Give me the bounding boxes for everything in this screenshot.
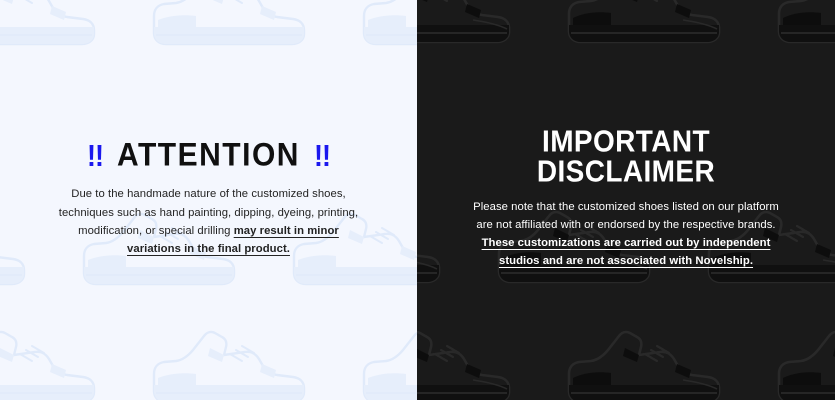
attention-heading: !! ATTENTION !! [87,140,330,172]
disclaimer-body: Please note that the customized shoes li… [469,198,783,271]
disclaimer-heading-line1: IMPORTANT [537,127,715,157]
disclaimer-heading: IMPORTANT DISCLAIMER [537,127,715,187]
attention-body: Due to the handmade nature of the custom… [56,185,361,258]
bang-left-icon: !! [87,141,103,172]
attention-panel: !! ATTENTION !! Due to the handmade natu… [0,0,417,400]
disclaimer-body-plain: Please note that the customized shoes li… [473,201,779,231]
disclaimer-banner: !! ATTENTION !! Due to the handmade natu… [0,0,835,400]
disclaimer-body-emphasis: These customizations are carried out by … [482,237,771,267]
bang-right-icon: !! [314,141,330,172]
attention-heading-text: ATTENTION [117,140,300,172]
disclaimer-heading-line2: DISCLAIMER [537,156,715,186]
disclaimer-content: IMPORTANT DISCLAIMER Please note that th… [417,0,835,400]
disclaimer-panel: IMPORTANT DISCLAIMER Please note that th… [417,0,835,400]
attention-content: !! ATTENTION !! Due to the handmade natu… [0,0,417,400]
